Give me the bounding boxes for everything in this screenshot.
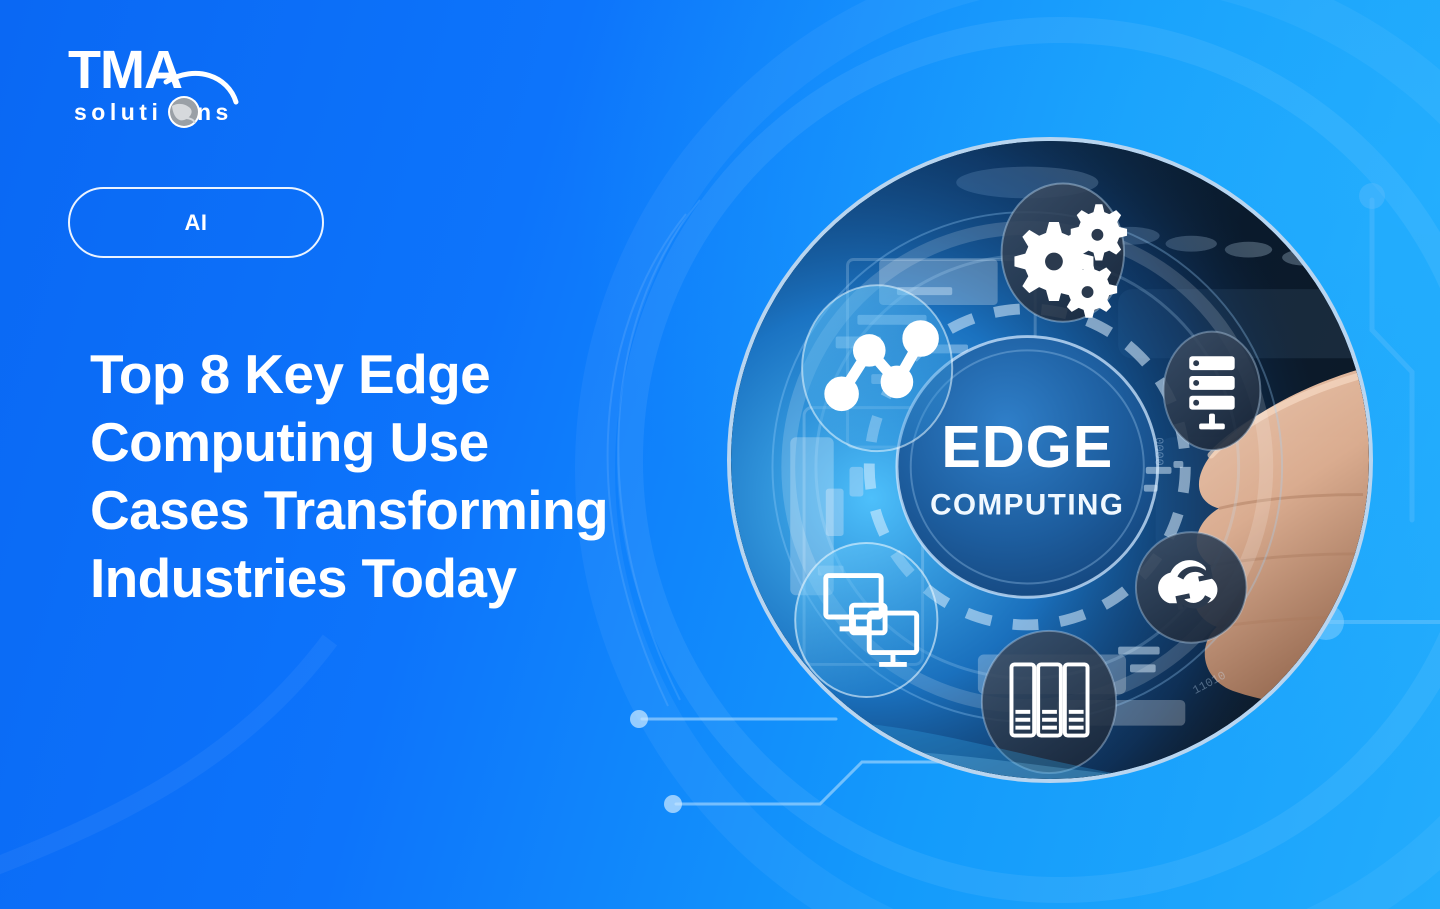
tma-solutions-logo[interactable]: TMA soluti ns [62,40,252,136]
hero-image-circle: 01001101 0110 1100101 01100 0110 1001011… [727,137,1373,783]
hero-center-label-secondary: COMPUTING [930,488,1124,521]
svg-text:0000: 0000 [1152,437,1166,465]
svg-text:TMA: TMA [68,40,182,100]
category-badge-ai[interactable]: AI [68,187,324,258]
cloud-sync-icon [1136,532,1247,643]
globe-icon [168,96,200,128]
svg-text:ns: ns [197,99,233,125]
hero-image: 01001101 0110 1100101 01100 0110 1001011… [727,137,1373,783]
svg-text:soluti: soluti [74,99,162,125]
edge-computing-illustration: 01001101 0110 1100101 01100 0110 1001011… [731,141,1369,779]
server-stack-icon [1164,332,1261,451]
monitors-icon [795,543,937,697]
hero-center-label-primary: EDGE [941,413,1113,480]
category-badge-label: AI [185,210,208,236]
network-nodes-icon [802,285,952,451]
page-title: Top 8 Key Edge Computing Use Cases Trans… [90,340,630,612]
hero-banner: TMA soluti ns AI Top 8 Key Edge Computin… [0,0,1440,909]
